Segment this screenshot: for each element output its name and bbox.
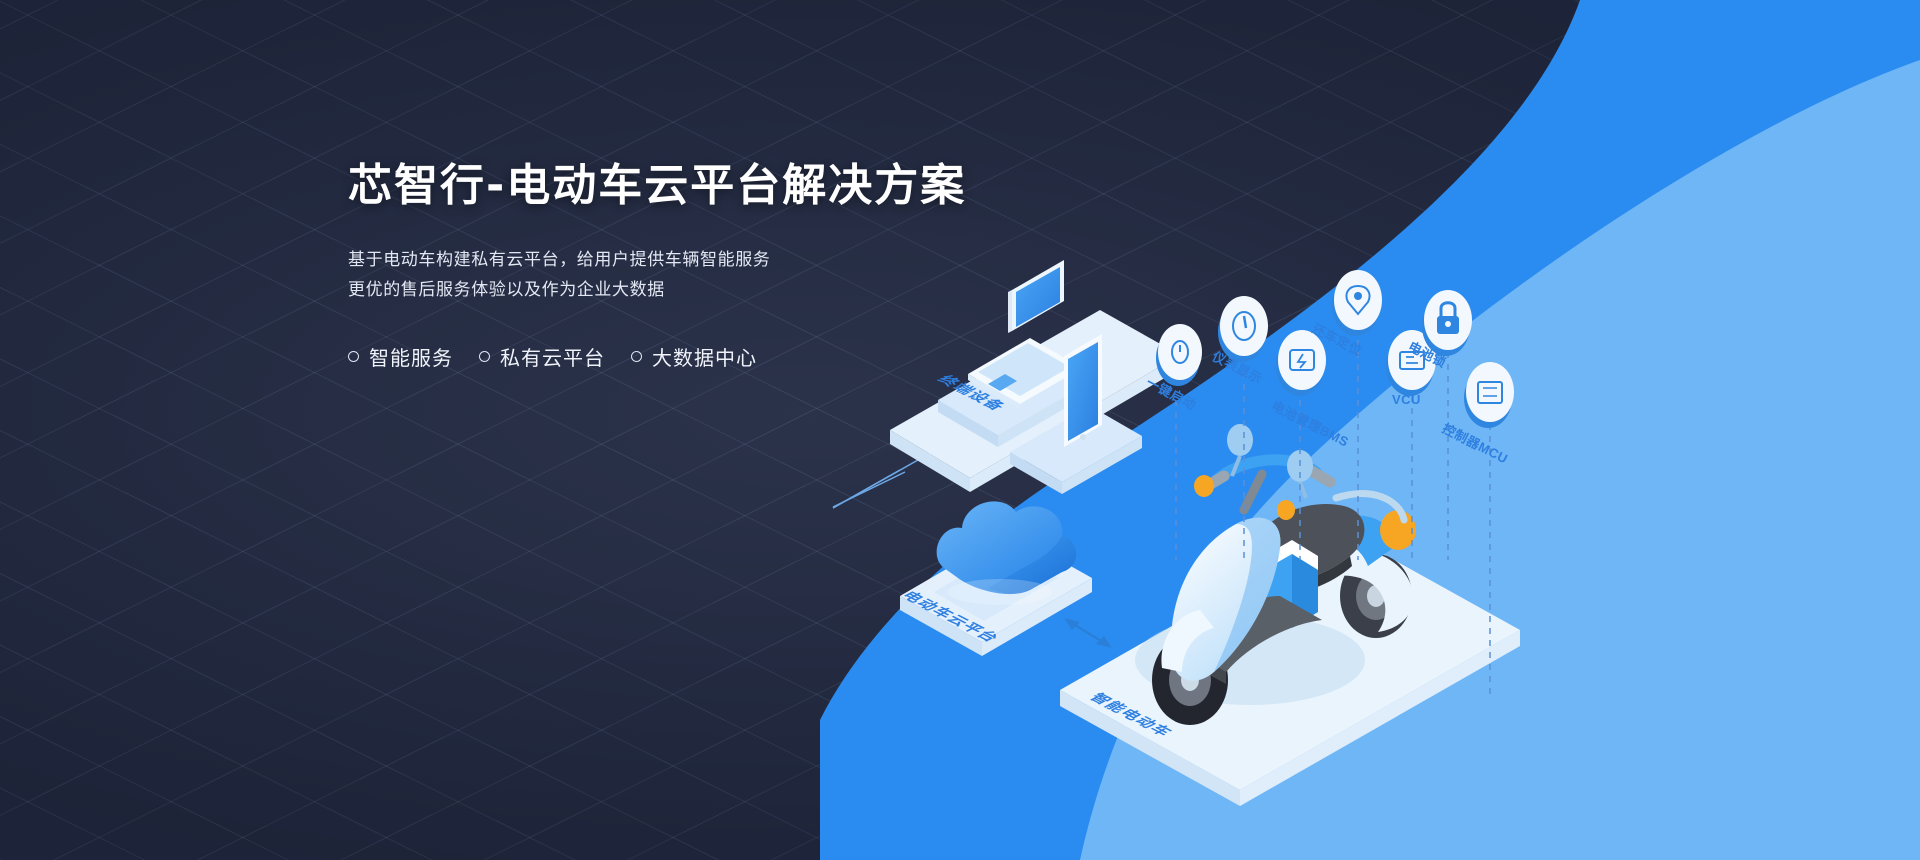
bullet-label: 私有云平台 (500, 342, 605, 371)
circle-bullet-icon (348, 351, 359, 362)
badge-label-vcu: VCU (1392, 392, 1421, 407)
bullet-item-smart-service: 智能服务 (348, 342, 453, 371)
bullet-item-private-cloud: 私有云平台 (479, 342, 605, 371)
hero-subtitle: 基于电动车构建私有云平台，给用户提供车辆智能服务 更优的售后服务体验以及作为企业… (348, 245, 1128, 305)
hero-banner: 芯智行-电动车云平台解决方案 基于电动车构建私有云平台，给用户提供车辆智能服务 … (0, 0, 1920, 860)
hero-copy-block: 芯智行-电动车云平台解决方案 基于电动车构建私有云平台，给用户提供车辆智能服务 … (348, 160, 1128, 371)
bullet-item-big-data: 大数据中心 (631, 342, 757, 371)
subtitle-line-2: 更优的售后服务体验以及作为企业大数据 (348, 275, 1128, 305)
decorative-wave-shapes (820, 0, 1920, 860)
feature-bullet-list: 智能服务 私有云平台 大数据中心 (348, 342, 1128, 371)
circle-bullet-icon (631, 351, 642, 362)
bullet-label: 大数据中心 (652, 342, 757, 371)
subtitle-line-1: 基于电动车构建私有云平台，给用户提供车辆智能服务 (348, 245, 1128, 275)
circle-bullet-icon (479, 351, 490, 362)
page-title: 芯智行-电动车云平台解决方案 (348, 160, 1128, 213)
bullet-label: 智能服务 (369, 342, 453, 371)
